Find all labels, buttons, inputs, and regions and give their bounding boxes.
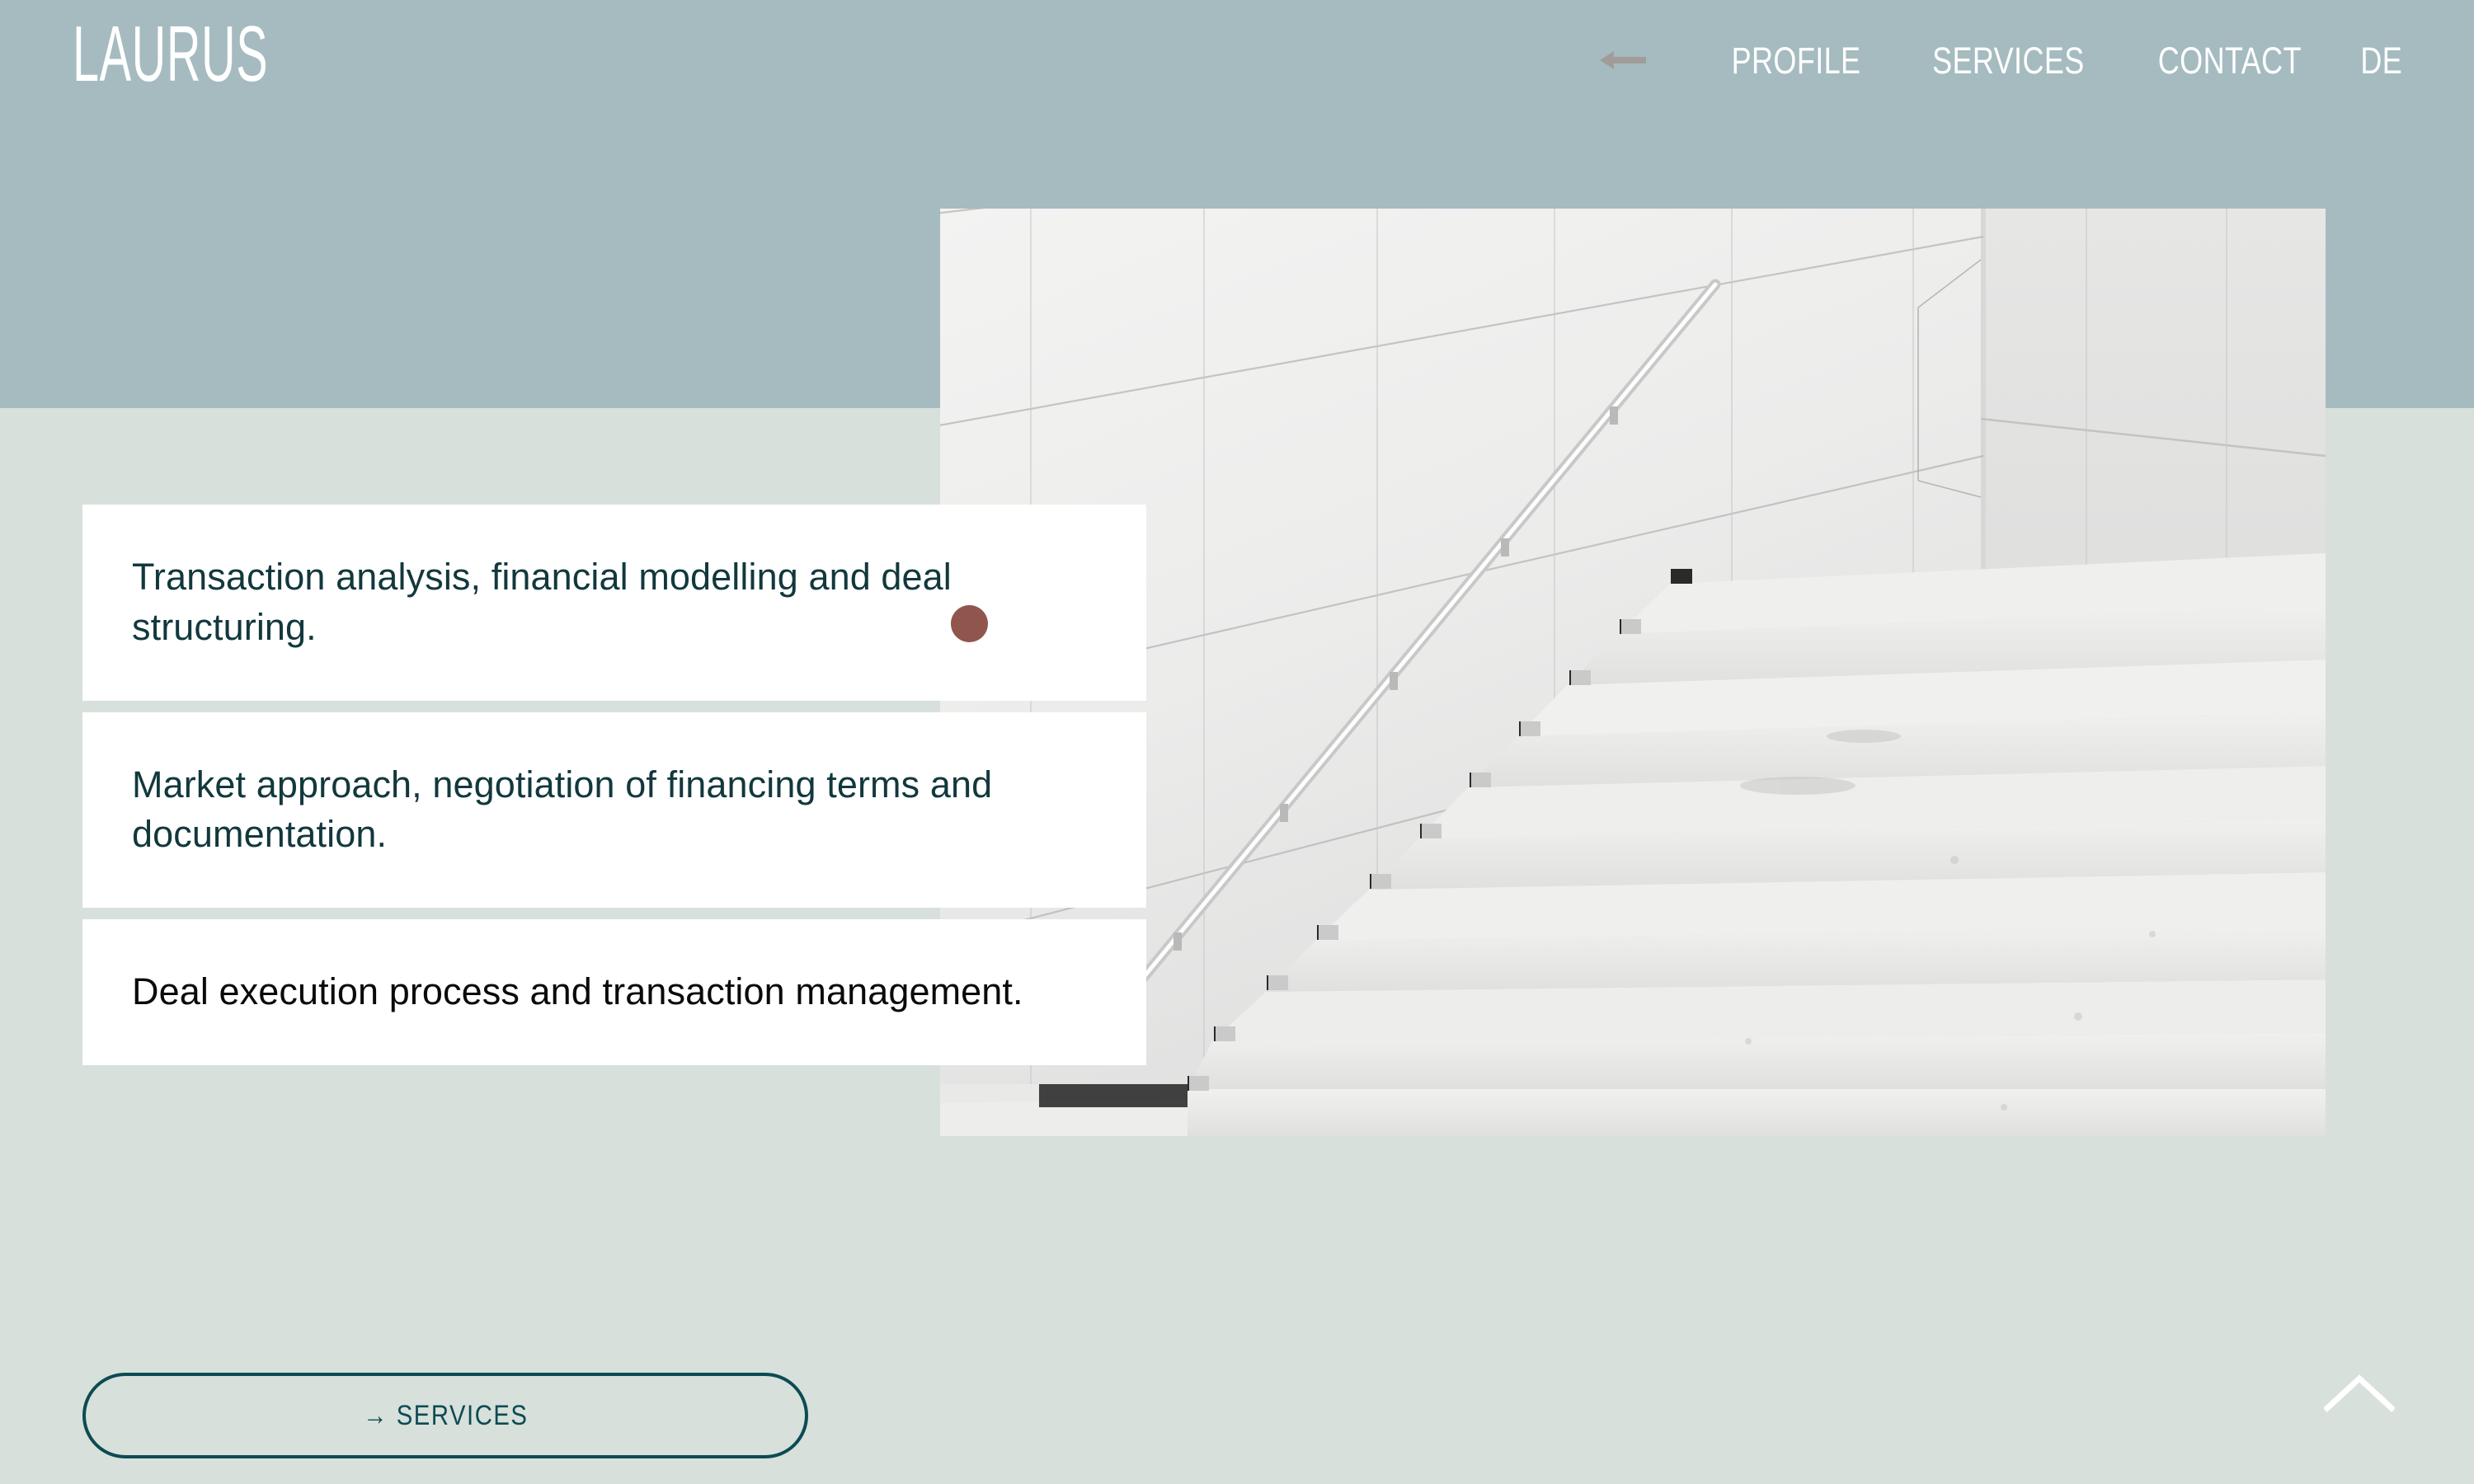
list-item[interactable]: Transaction analysis, financial modellin…: [82, 505, 1146, 701]
accent-dot-icon: [951, 605, 988, 642]
card-text: Market approach, negotiation of financin…: [132, 760, 1097, 861]
nav-item-profile[interactable]: PROFILE: [1732, 42, 1861, 79]
brand-logo[interactable]: LAURUS: [73, 15, 268, 94]
nav-item-services[interactable]: SERVICES: [1932, 42, 2085, 79]
arrow-left-icon[interactable]: [1600, 48, 1646, 73]
services-button[interactable]: → SERVICES: [82, 1373, 808, 1458]
card-text: Deal execution process and transaction m…: [132, 967, 1097, 1017]
nav-item-contact[interactable]: CONTACT: [2158, 42, 2302, 79]
chevron-up-icon: [2324, 1370, 2395, 1415]
card-text: Transaction analysis, financial modellin…: [132, 552, 1097, 653]
list-item[interactable]: Deal execution process and transaction m…: [82, 919, 1146, 1065]
nav-item-language-de[interactable]: DE: [2361, 42, 2403, 79]
main-navigation: PROFILE SERVICES CONTACT DE: [1600, 0, 2474, 120]
hero-staircase-image: [940, 209, 2326, 1136]
service-cards-list: Transaction analysis, financial modellin…: [82, 505, 1146, 1065]
services-button-label: → SERVICES: [363, 1400, 528, 1432]
list-item[interactable]: Market approach, negotiation of financin…: [82, 712, 1146, 909]
scroll-to-top-button[interactable]: [2324, 1370, 2395, 1415]
